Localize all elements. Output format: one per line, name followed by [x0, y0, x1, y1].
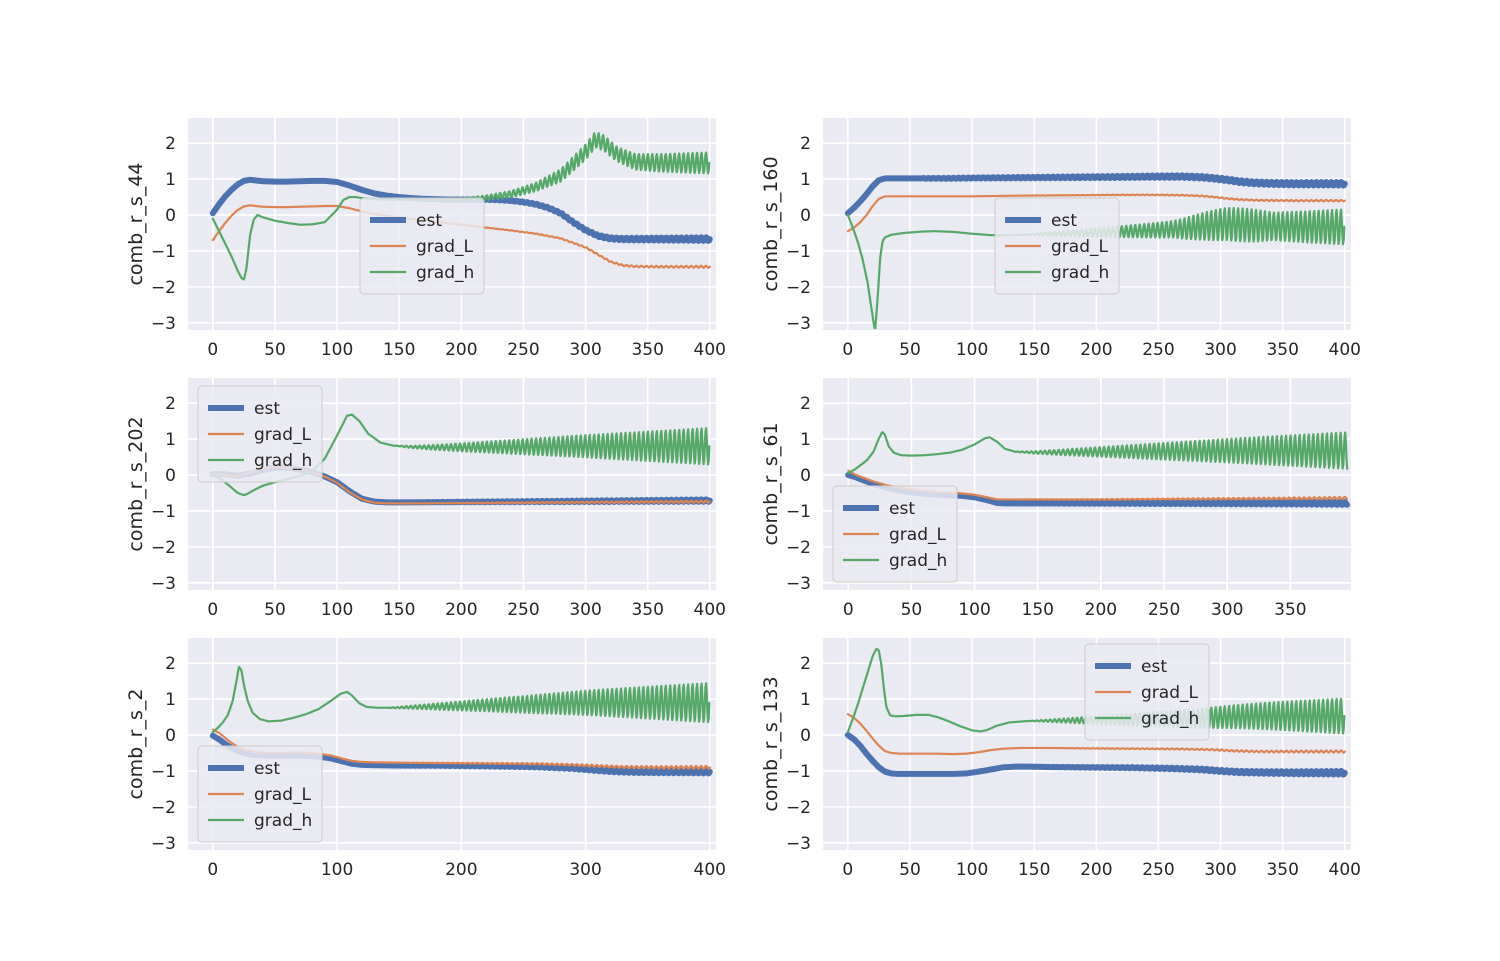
- y-tick-label: −1: [786, 762, 811, 782]
- legend-label-est: est: [1141, 657, 1167, 677]
- y-tick-label: −3: [151, 834, 176, 854]
- legend-label-grad_L: grad_L: [254, 425, 311, 445]
- x-tick-label: 300: [569, 340, 601, 360]
- x-tick-label: 50: [264, 340, 286, 360]
- legend-label-grad_L: grad_L: [416, 237, 473, 257]
- y-tick-label: 2: [165, 394, 176, 414]
- y-axis-title: comb_r_s_2: [125, 689, 147, 800]
- y-tick-label: −1: [151, 502, 176, 522]
- y-tick-label: −1: [151, 242, 176, 262]
- x-tick-label: 150: [1018, 340, 1050, 360]
- y-tick-label: 2: [800, 654, 811, 674]
- x-tick-label: 250: [507, 340, 539, 360]
- x-tick-label: 300: [569, 860, 601, 880]
- y-tick-labels: −3−2−1012: [151, 394, 176, 594]
- x-tick-label: 400: [1329, 340, 1361, 360]
- x-tick-labels: 050100150200250300350400: [842, 340, 1361, 360]
- x-tick-labels: 050100150200250300350: [843, 600, 1307, 620]
- x-tick-label: 250: [507, 600, 539, 620]
- y-axis-title: comb_r_s_44: [125, 162, 147, 285]
- x-tick-label: 50: [901, 600, 923, 620]
- y-tick-label: 1: [800, 690, 811, 710]
- x-tick-label: 300: [1211, 600, 1243, 620]
- legend[interactable]: estgrad_Lgrad_h: [360, 198, 484, 294]
- y-tick-label: 0: [165, 726, 176, 746]
- x-tick-label: 50: [264, 600, 286, 620]
- y-tick-label: 0: [800, 206, 811, 226]
- x-tick-label: 150: [1022, 600, 1054, 620]
- y-tick-label: −3: [151, 574, 176, 594]
- y-tick-label: −2: [786, 278, 811, 298]
- y-tick-label: 2: [800, 134, 811, 154]
- x-tick-labels: 050100150200250300350400: [842, 860, 1361, 880]
- y-tick-labels: −3−2−1012: [786, 654, 811, 854]
- x-tick-label: 350: [1274, 600, 1306, 620]
- legend-label-grad_L: grad_L: [1051, 237, 1108, 257]
- legend-label-grad_h: grad_h: [254, 451, 312, 471]
- y-axis-title: comb_r_s_61: [760, 422, 782, 545]
- legend[interactable]: estgrad_Lgrad_h: [198, 746, 322, 842]
- x-tick-label: 400: [694, 340, 726, 360]
- y-tick-label: 1: [165, 430, 176, 450]
- x-tick-label: 300: [569, 600, 601, 620]
- x-tick-label: 400: [1329, 860, 1361, 880]
- y-tick-label: −2: [786, 538, 811, 558]
- y-tick-labels: −3−2−1012: [151, 134, 176, 334]
- subplot-top-left: −3−2−1012050100150200250300350400comb_r_…: [116, 114, 722, 364]
- x-tick-label: 0: [843, 600, 854, 620]
- y-tick-label: 1: [800, 170, 811, 190]
- legend-label-grad_L: grad_L: [889, 525, 946, 545]
- y-tick-label: 0: [165, 206, 176, 226]
- x-tick-label: 200: [1080, 340, 1112, 360]
- x-tick-label: 100: [956, 860, 988, 880]
- x-tick-label: 400: [694, 600, 726, 620]
- x-tick-label: 300: [1204, 340, 1236, 360]
- y-tick-label: 0: [800, 466, 811, 486]
- x-tick-label: 200: [1080, 860, 1112, 880]
- y-tick-label: 0: [800, 726, 811, 746]
- legend-label-grad_h: grad_h: [254, 811, 312, 831]
- y-tick-label: 0: [165, 466, 176, 486]
- x-tick-label: 50: [899, 860, 921, 880]
- subplot-bottom-left: −3−2−10120100200300400comb_r_s_2estgrad_…: [116, 634, 722, 884]
- figure-canvas: −3−2−1012050100150200250300350400comb_r_…: [0, 0, 1500, 961]
- x-tick-label: 350: [1266, 340, 1298, 360]
- x-tick-label: 200: [1085, 600, 1117, 620]
- x-tick-label: 0: [842, 860, 853, 880]
- y-tick-labels: −3−2−1012: [151, 654, 176, 854]
- y-tick-label: −3: [151, 314, 176, 334]
- y-tick-label: −2: [151, 798, 176, 818]
- y-tick-label: 2: [165, 134, 176, 154]
- x-tick-label: 300: [1204, 860, 1236, 880]
- x-tick-labels: 050100150200250300350400: [207, 600, 726, 620]
- y-tick-label: 2: [800, 394, 811, 414]
- x-tick-label: 250: [1142, 340, 1174, 360]
- x-tick-label: 100: [956, 340, 988, 360]
- y-tick-label: −3: [786, 834, 811, 854]
- subplot-middle-right: −3−2−1012050100150200250300350comb_r_s_6…: [751, 374, 1357, 624]
- x-tick-label: 200: [445, 860, 477, 880]
- x-tick-label: 200: [445, 600, 477, 620]
- legend-label-est: est: [254, 399, 280, 419]
- legend[interactable]: estgrad_Lgrad_h: [995, 198, 1119, 294]
- x-tick-label: 150: [1018, 860, 1050, 880]
- legend-label-est: est: [1051, 211, 1077, 231]
- x-tick-label: 0: [207, 340, 218, 360]
- x-tick-label: 100: [321, 860, 353, 880]
- x-tick-label: 0: [207, 600, 218, 620]
- y-tick-label: 1: [165, 690, 176, 710]
- legend-label-est: est: [889, 499, 915, 519]
- legend[interactable]: estgrad_Lgrad_h: [833, 486, 957, 582]
- subplot-middle-left: −3−2−1012050100150200250300350400comb_r_…: [116, 374, 722, 624]
- x-tick-label: 250: [1142, 860, 1174, 880]
- y-tick-label: 1: [165, 170, 176, 190]
- legend-label-est: est: [416, 211, 442, 231]
- y-tick-label: −1: [786, 502, 811, 522]
- legend-label-grad_h: grad_h: [1141, 709, 1199, 729]
- y-tick-labels: −3−2−1012: [786, 134, 811, 334]
- x-tick-label: 0: [207, 860, 218, 880]
- legend-label-grad_h: grad_h: [1051, 263, 1109, 283]
- x-tick-label: 150: [383, 600, 415, 620]
- y-tick-label: 2: [165, 654, 176, 674]
- x-tick-label: 0: [842, 340, 853, 360]
- x-tick-label: 350: [631, 340, 663, 360]
- y-tick-label: 1: [800, 430, 811, 450]
- y-tick-label: −2: [151, 278, 176, 298]
- y-tick-label: −1: [151, 762, 176, 782]
- x-tick-labels: 050100150200250300350400: [207, 340, 726, 360]
- y-tick-labels: −3−2−1012: [786, 394, 811, 594]
- legend-label-grad_L: grad_L: [1141, 683, 1198, 703]
- x-tick-label: 400: [694, 860, 726, 880]
- legend-label-est: est: [254, 759, 280, 779]
- x-tick-label: 100: [321, 600, 353, 620]
- y-tick-label: −2: [786, 798, 811, 818]
- y-axis-title: comb_r_s_202: [125, 416, 147, 551]
- x-tick-label: 100: [958, 600, 990, 620]
- subplot-bottom-right: −3−2−1012050100150200250300350400comb_r_…: [751, 634, 1357, 884]
- x-tick-label: 100: [321, 340, 353, 360]
- y-axis-title: comb_r_s_133: [760, 676, 782, 811]
- legend[interactable]: estgrad_Lgrad_h: [1085, 644, 1209, 740]
- legend-label-grad_h: grad_h: [889, 551, 947, 571]
- y-tick-label: −2: [151, 538, 176, 558]
- y-axis-title: comb_r_s_160: [760, 156, 782, 291]
- legend-label-grad_L: grad_L: [254, 785, 311, 805]
- x-tick-labels: 0100200300400: [207, 860, 726, 880]
- y-tick-label: −3: [786, 314, 811, 334]
- legend-label-grad_h: grad_h: [416, 263, 474, 283]
- y-tick-label: −3: [786, 574, 811, 594]
- legend[interactable]: estgrad_Lgrad_h: [198, 386, 322, 482]
- y-tick-label: −1: [786, 242, 811, 262]
- x-tick-label: 150: [383, 340, 415, 360]
- x-tick-label: 350: [1266, 860, 1298, 880]
- x-tick-label: 250: [1148, 600, 1180, 620]
- x-tick-label: 200: [445, 340, 477, 360]
- x-tick-label: 350: [631, 600, 663, 620]
- subplot-top-right: −3−2−1012050100150200250300350400comb_r_…: [751, 114, 1357, 364]
- x-tick-label: 50: [899, 340, 921, 360]
